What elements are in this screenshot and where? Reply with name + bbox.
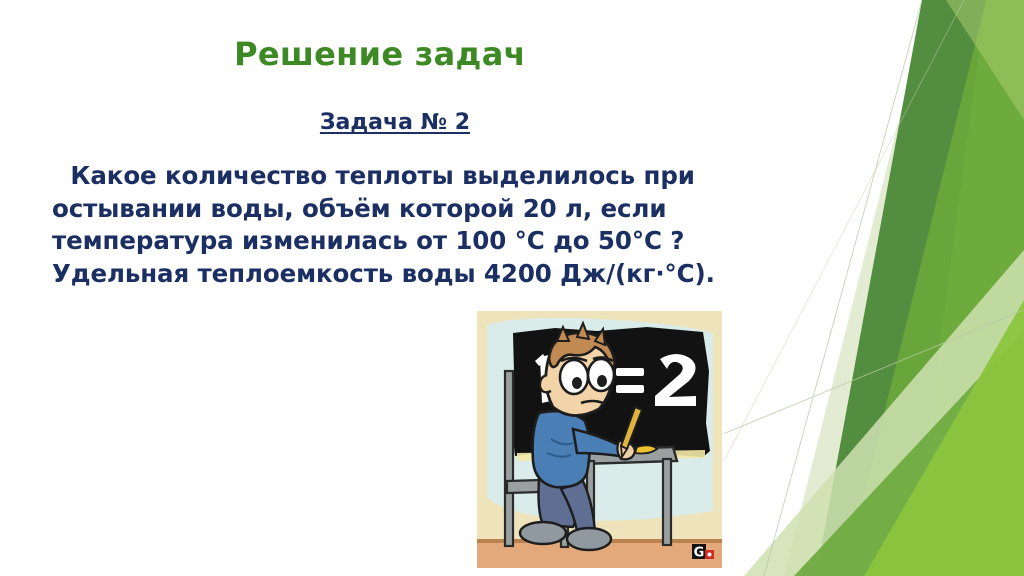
presentation-slide: Решение задач Задача № 2 Какое количеств…	[0, 0, 1024, 576]
problem-line-3: температура изменилась от 100 °С до 50°С…	[52, 225, 812, 258]
problem-line-2: остывании воды, объём которой 20 л, если	[52, 193, 812, 226]
boy-at-desk-drawing	[477, 311, 722, 568]
problem-line-1: Какое количество теплоты выделилось при	[52, 160, 812, 193]
problem-heading: Задача № 2	[0, 110, 790, 135]
illustration-boy-at-desk: G	[477, 311, 722, 568]
watermark-logo-g: G	[691, 543, 717, 561]
problem-line-4: Удельная теплоемкость воды 4200 Дж/(кг·°…	[52, 258, 812, 291]
svg-text:G: G	[694, 546, 705, 561]
problem-statement: Какое количество теплоты выделилось при …	[52, 160, 812, 290]
slide-title: Решение задач	[0, 36, 760, 73]
